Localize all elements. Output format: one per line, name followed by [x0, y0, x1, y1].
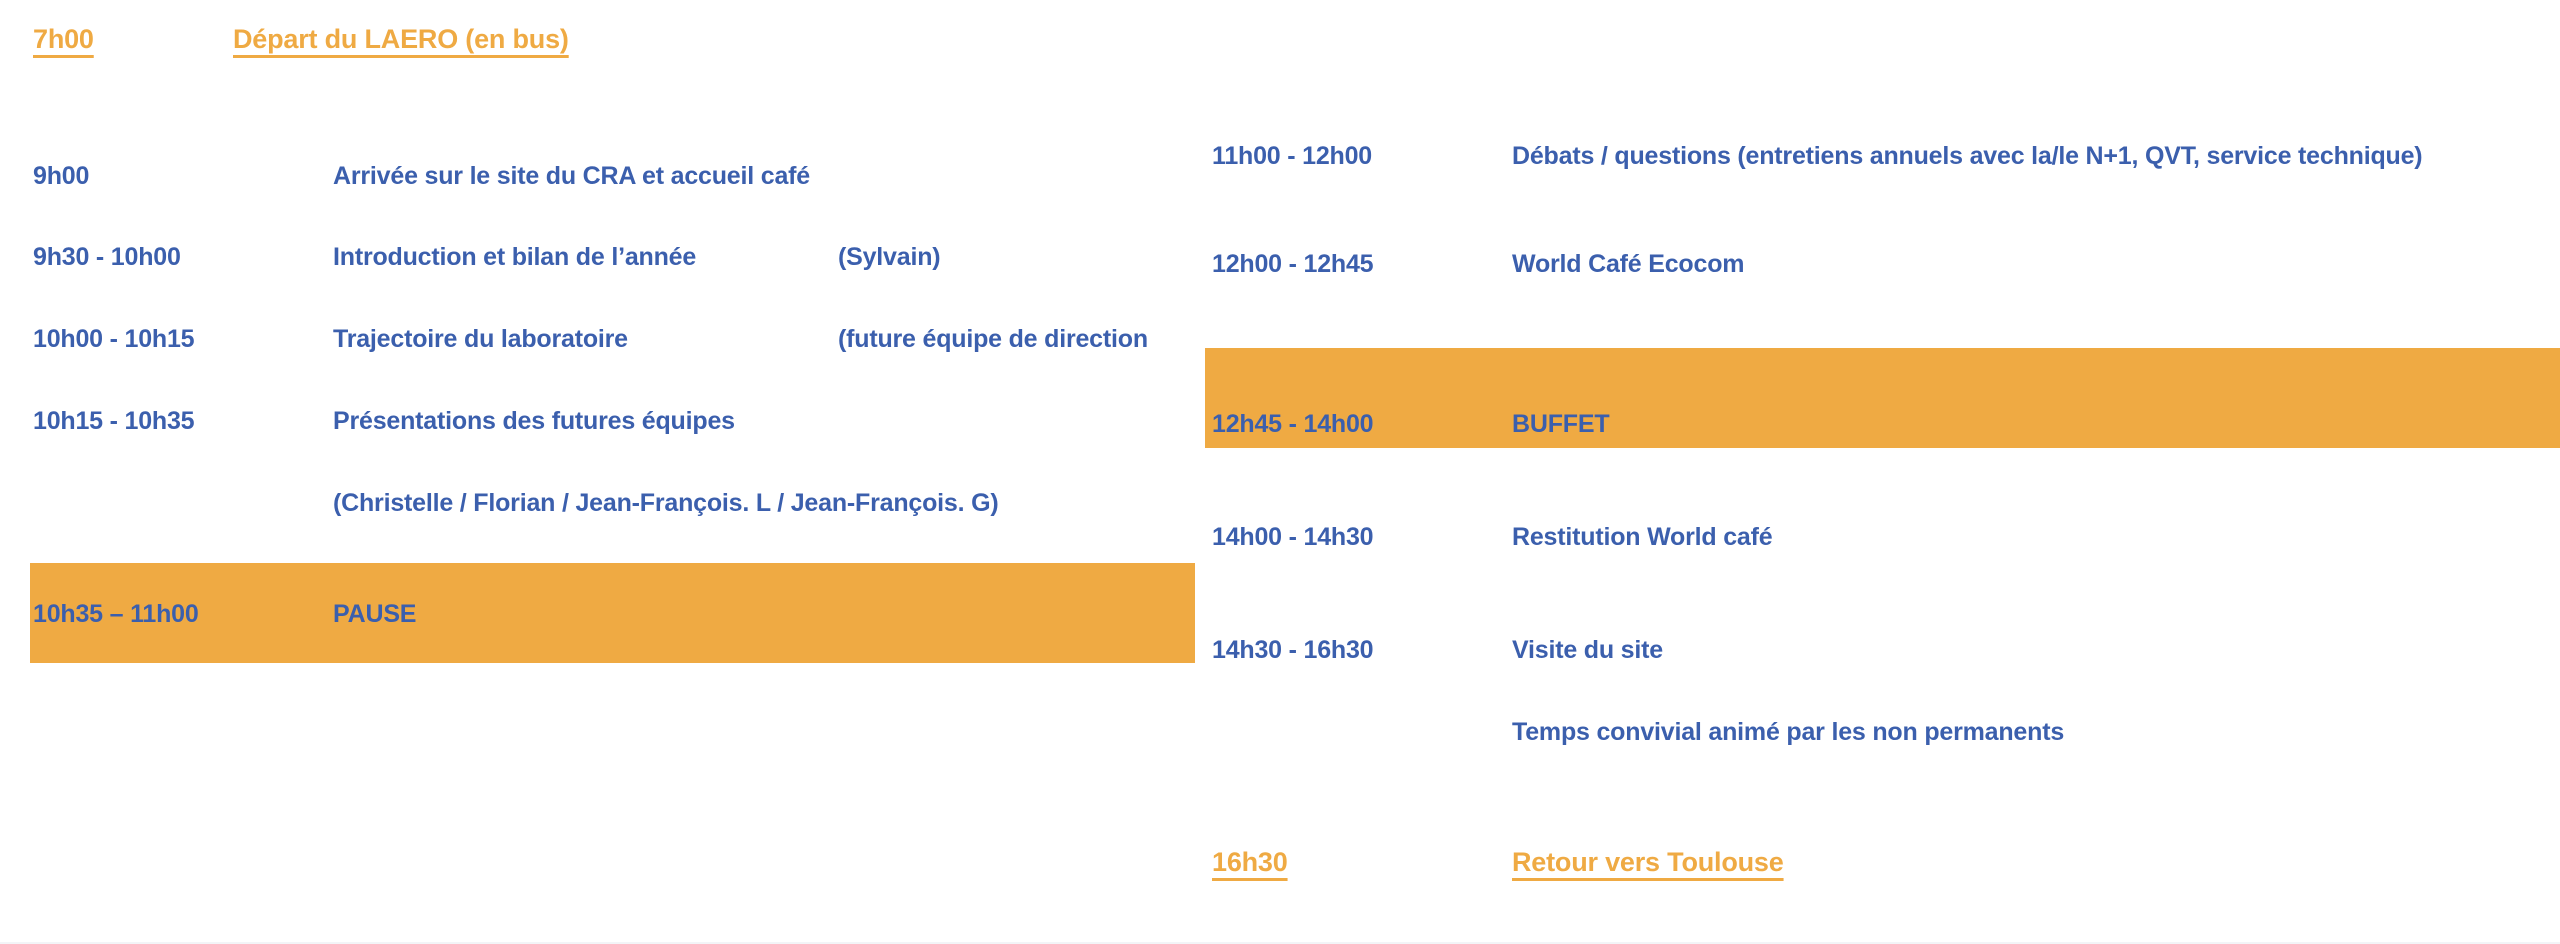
- row-extra: (Sylvain): [838, 243, 940, 272]
- row-time: 12h00 - 12h45: [1212, 250, 1373, 279]
- row-time: 11h00 - 12h00: [1212, 142, 1372, 171]
- row-description: BUFFET: [1512, 410, 1609, 439]
- row-time: 14h30 - 16h30: [1212, 636, 1373, 665]
- row-time: 9h00: [33, 162, 89, 191]
- row-description: Introduction et bilan de l’année: [333, 243, 696, 272]
- row-time: 10h00 - 10h15: [33, 325, 194, 354]
- row-time: 10h15 - 10h35: [33, 407, 194, 436]
- row-time: 10h35 – 11h00: [33, 600, 199, 629]
- row-description: PAUSE: [333, 600, 416, 629]
- row-description: World Café Ecocom: [1512, 250, 1744, 279]
- footer-description: Retour vers Toulouse: [1512, 847, 1784, 878]
- buffet-highlight-band: [1205, 348, 2560, 448]
- schedule-slide: 7h00 Départ du LAERO (en bus) 9h00 Arriv…: [0, 0, 2560, 944]
- pause-highlight-band: [30, 563, 1195, 663]
- header-description: Départ du LAERO (en bus): [233, 24, 569, 55]
- footer-time: 16h30: [1212, 847, 1288, 878]
- row-description: Restitution World café: [1512, 523, 1772, 552]
- row-description: Trajectoire du laboratoire: [333, 325, 628, 354]
- row-time: 12h45 - 14h00: [1212, 410, 1373, 439]
- row-description: Arrivée sur le site du CRA et accueil ca…: [333, 162, 810, 191]
- row-description: Visite du site: [1512, 636, 1663, 665]
- row-description: Débats / questions (entretiens annuels a…: [1512, 142, 2422, 171]
- header-time: 7h00: [33, 24, 94, 55]
- row-time: 9h30 - 10h00: [33, 243, 181, 272]
- row-description: Présentations des futures équipes: [333, 407, 735, 436]
- row-time: 14h00 - 14h30: [1212, 523, 1373, 552]
- row-description: Temps convivial animé par les non perman…: [1512, 718, 2064, 747]
- row-extra: (future équipe de direction: [838, 325, 1148, 354]
- row-description: (Christelle / Florian / Jean-François. L…: [333, 489, 999, 518]
